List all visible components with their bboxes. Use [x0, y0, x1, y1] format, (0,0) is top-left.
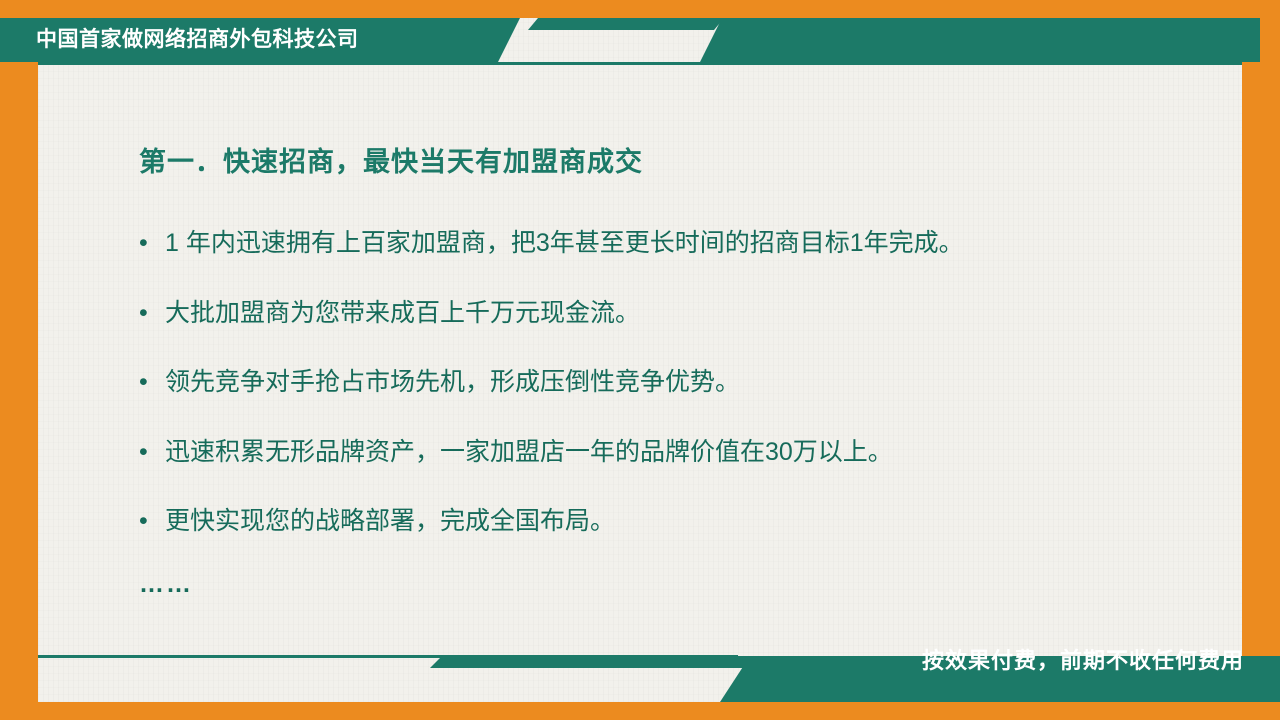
- list-item-text: 大批加盟商为您带来成百上千万元现金流。: [165, 300, 1229, 328]
- slide-content: 第一．快速招商，最快当天有加盟商成交 • 1 年内迅速拥有上百家加盟商，把3年甚…: [38, 70, 1242, 630]
- list-item: • 更快实现您的战略部署，完成全国布局。: [139, 508, 1229, 536]
- slide: 中国首家做网络招商外包科技公司 第一．快速招商，最快当天有加盟商成交 • 1 年…: [0, 0, 1280, 720]
- section-heading: 第一．快速招商，最快当天有加盟商成交: [139, 140, 643, 179]
- list-item: • 迅速积累无形品牌资产，一家加盟店一年的品牌价值在30万以上。: [139, 439, 1229, 467]
- list-item-text: 更快实现您的战略部署，完成全国布局。: [165, 508, 1229, 536]
- footer-tagline: 按效果付费，前期不收任何费用: [922, 638, 1244, 684]
- header-title: 中国首家做网络招商外包科技公司: [36, 18, 359, 62]
- list-item-text: 1 年内迅速拥有上百家加盟商，把3年甚至更长时间的招商目标1年完成。: [165, 230, 1229, 258]
- list-item: • 1 年内迅速拥有上百家加盟商，把3年甚至更长时间的招商目标1年完成。: [139, 230, 1229, 258]
- header-banner-right-shape: [700, 18, 1260, 62]
- bullet-dot-icon: •: [139, 439, 165, 467]
- bullet-dot-icon: •: [139, 508, 165, 536]
- list-item: • 领先竞争对手抢占市场先机，形成压倒性竞争优势。: [139, 369, 1229, 397]
- bullet-dot-icon: •: [139, 369, 165, 397]
- slide-footer: 按效果付费，前期不收任何费用: [0, 656, 1280, 702]
- list-item-text: 迅速积累无形品牌资产，一家加盟店一年的品牌价值在30万以上。: [165, 439, 1229, 467]
- bullet-dot-icon: •: [139, 230, 165, 258]
- bullet-dot-icon: •: [139, 300, 165, 328]
- header-accent-strip-1: [528, 18, 724, 30]
- bullet-list: • 1 年内迅速拥有上百家加盟商，把3年甚至更长时间的招商目标1年完成。 • 大…: [139, 230, 1229, 578]
- ellipsis-text: ……: [139, 570, 193, 599]
- slide-header: 中国首家做网络招商外包科技公司: [0, 18, 1280, 62]
- header-underline: [38, 62, 1242, 65]
- list-item: • 大批加盟商为您带来成百上千万元现金流。: [139, 300, 1229, 328]
- footer-underline: [38, 655, 738, 658]
- list-item-text: 领先竞争对手抢占市场先机，形成压倒性竞争优势。: [165, 369, 1229, 397]
